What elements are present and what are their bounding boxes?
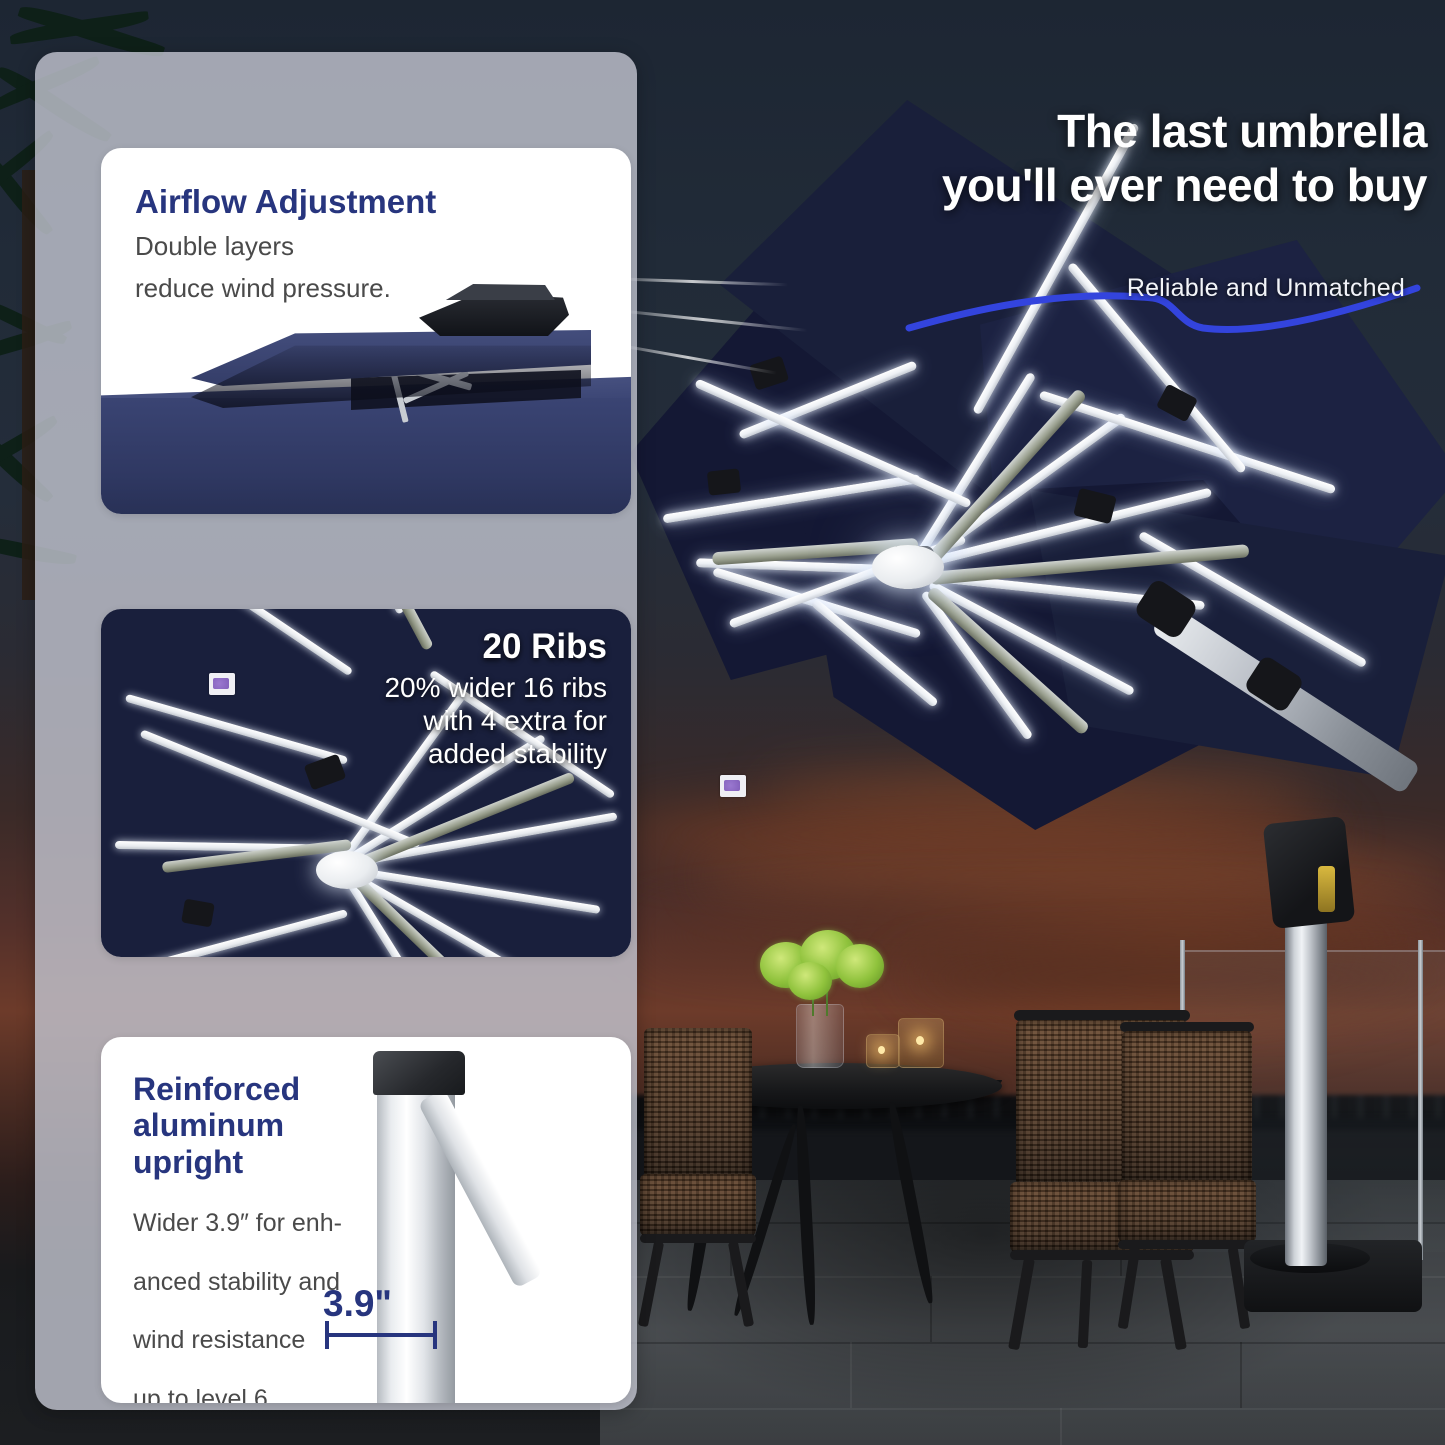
card2-overlay-line-2: with 4 extra for (307, 704, 607, 737)
canopy-fabric-tag (720, 775, 746, 797)
subtitle-block: Reliable and Unmatched (903, 274, 1423, 336)
flower-bloom (788, 962, 832, 1000)
umbrella-center-hub-light (872, 545, 944, 589)
candle-flame (878, 1046, 885, 1054)
wicker-chair (1112, 1022, 1262, 1322)
canopy-fabric-tag (209, 673, 235, 695)
card3-body-line-1: Wider 3.9″ for enh- (133, 1208, 383, 1239)
railing-post (1418, 940, 1423, 1260)
lower-canopy (101, 398, 631, 514)
headline: The last umbrella you'll ever need to bu… (767, 104, 1427, 213)
card3-title-line-2: aluminum (133, 1107, 383, 1143)
card3-title-line-1: Reinforced (133, 1071, 383, 1107)
card1-text-block: Airflow Adjustment Double layers reduce … (135, 184, 565, 304)
card3-body-line-2: anced stability and (133, 1267, 383, 1298)
feature-panel: Airflow Adjustment Double layers reduce … (35, 52, 637, 1410)
card2-overlay-line-1: 20% wider 16 ribs (307, 671, 607, 704)
subtitle-text: Reliable and Unmatched (1127, 274, 1405, 303)
card3-body-line-3: wind resistance (133, 1325, 383, 1356)
candle-flame (916, 1036, 924, 1045)
product-feature-image: The last umbrella you'll ever need to bu… (0, 0, 1445, 1445)
card1-body-line-1: Double layers (135, 231, 565, 263)
ribs-center-hub-light (316, 851, 378, 889)
card3-title-line-3: upright (133, 1144, 383, 1180)
feature-card-airflow-adjustment: Airflow Adjustment Double layers reduce … (101, 148, 631, 514)
card2-overlay-title: 20 Ribs (483, 627, 608, 667)
card2-overlay-line-3: added stability (307, 737, 607, 770)
card3-body-line-4: up to level 6. (133, 1384, 383, 1403)
feature-card-reinforced-upright: 3.9" Reinforced aluminum upright Wider 3… (101, 1037, 631, 1403)
wicker-chair (640, 1022, 760, 1322)
card3-text-block: Reinforced aluminum upright Wider 3.9″ f… (133, 1071, 383, 1403)
card1-title: Airflow Adjustment (135, 184, 565, 221)
glass-vase (796, 1004, 844, 1068)
feature-card-twenty-ribs: 20 Ribs 20% wider 16 ribs with 4 extra f… (101, 609, 631, 957)
dimension-cap-right (433, 1321, 437, 1349)
headline-line-1: The last umbrella (767, 104, 1427, 158)
upright-top-cap (373, 1051, 465, 1095)
headline-line-2: you'll ever need to buy (767, 158, 1427, 212)
card1-body-line-2: reduce wind pressure. (135, 273, 565, 305)
flower-bloom (836, 944, 884, 988)
card2-overlay-body: 20% wider 16 ribs with 4 extra for added… (307, 671, 607, 770)
